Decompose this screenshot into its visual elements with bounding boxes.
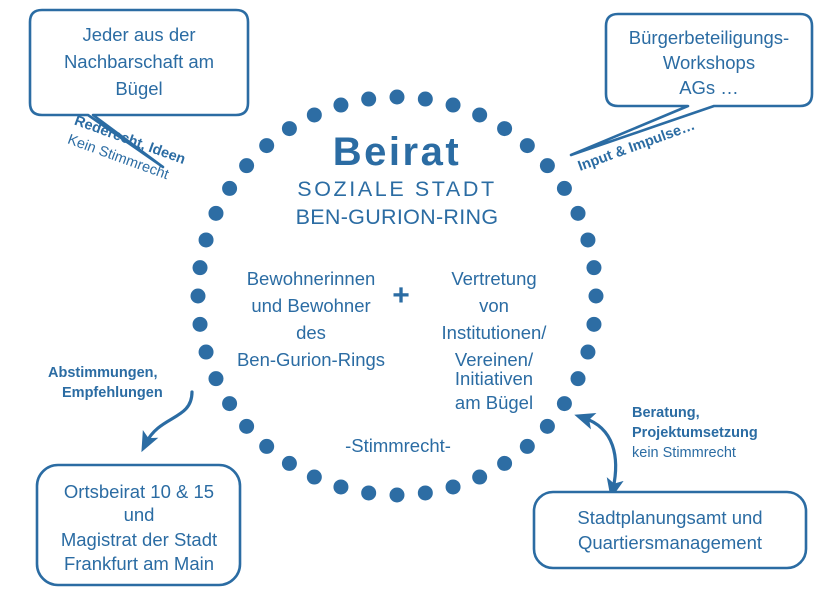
bubble-tr-line-1: Workshops: [663, 52, 755, 73]
arrow-beratung-bidirectional: [584, 418, 616, 489]
beirat-structure-diagram: Beirat SOZIALE STADT BEN-GURION-RING Bew…: [0, 0, 820, 600]
box-bl-line-0: Ortsbeirat 10 & 15: [64, 481, 214, 502]
ring-dot: [307, 107, 322, 122]
connector-label-bottom-right: Beratung, Projektumsetzung kein Stimmrec…: [632, 405, 758, 461]
box-bottom-left[interactable]: Ortsbeirat 10 & 15 und Magistrat der Sta…: [37, 465, 240, 585]
ring-dot: [497, 456, 512, 471]
box-bl-line-3: Frankfurt am Main: [64, 553, 214, 574]
box-bl-line-1: und: [124, 504, 155, 525]
ring-dot: [520, 439, 535, 454]
ring-dot: [193, 317, 208, 332]
ring-dot: [282, 121, 297, 136]
ring-dot: [390, 488, 405, 503]
ring-dot: [446, 98, 461, 113]
ring-dot: [333, 98, 348, 113]
center-subtitle-1: SOZIALE STADT: [297, 177, 496, 201]
center-left-line-1: und Bewohner: [251, 295, 370, 316]
center-right-line-5: am Bügel: [455, 392, 533, 413]
bubble-tl-line-1: Nachbarschaft am: [64, 51, 214, 72]
ring-dot: [208, 371, 223, 386]
ring-dot: [540, 158, 555, 173]
center-subtitle-2: BEN-GURION-RING: [296, 205, 499, 229]
label-br-bold-1: Projektumsetzung: [632, 425, 758, 441]
center-left-line-2: des: [296, 322, 326, 343]
ring-dot: [259, 439, 274, 454]
label-bl-bold-0: Abstimmungen,: [48, 365, 158, 381]
ring-dot: [418, 92, 433, 107]
ring-dot: [472, 470, 487, 485]
ring-dot: [586, 260, 601, 275]
center-left-line-0: Bewohnerinnen: [247, 268, 376, 289]
center-right-line-3: Vereinen/: [455, 349, 534, 370]
connector-label-bottom-left: Abstimmungen, Empfehlungen: [48, 365, 163, 401]
ring-dot: [589, 289, 604, 304]
ring-dot: [497, 121, 512, 136]
center-right-line-2: Institutionen/: [442, 322, 548, 343]
bubble-tr-line-2: AGs …: [679, 77, 739, 98]
box-bl-line-2: Magistrat der Stadt: [61, 529, 217, 550]
ring-dot: [333, 479, 348, 494]
ring-dot: [571, 371, 586, 386]
center-title: Beirat: [333, 130, 461, 174]
ring-dot: [580, 232, 595, 247]
diagram-canvas: Beirat SOZIALE STADT BEN-GURION-RING Bew…: [0, 0, 820, 600]
bubble-tr-line-0: Bürgerbeteiligungs-: [629, 27, 789, 48]
ring-dot: [361, 485, 376, 500]
ring-dot: [586, 317, 601, 332]
ring-dot: [193, 260, 208, 275]
center-right-line-1: von: [479, 295, 509, 316]
box-bottom-right[interactable]: Stadtplanungsamt und Quartiersmanagement: [534, 492, 806, 568]
ring-dot: [199, 232, 214, 247]
ring-dot: [191, 289, 206, 304]
bubble-tl-line-2: Bügel: [115, 78, 162, 99]
box-br-line-0: Stadtplanungsamt und: [577, 507, 762, 528]
ring-dot: [259, 138, 274, 153]
ring-dot: [222, 181, 237, 196]
center-right-line-0: Vertretung: [451, 268, 536, 289]
ring-dot: [282, 456, 297, 471]
ring-dot: [571, 206, 586, 221]
ring-dot: [361, 92, 376, 107]
ring-dot: [418, 485, 433, 500]
ring-dot: [540, 419, 555, 434]
center-left-line-3: Ben-Gurion-Rings: [237, 349, 385, 370]
ring-dot: [239, 419, 254, 434]
label-br-bold-0: Beratung,: [632, 405, 700, 421]
label-br-regular-0: kein Stimmrecht: [632, 445, 736, 461]
ring-dot: [239, 158, 254, 173]
box-br-line-1: Quartiersmanagement: [578, 532, 762, 553]
center-footer: -Stimmrecht-: [345, 435, 451, 456]
ring-dot: [580, 345, 595, 360]
ring-dot: [557, 396, 572, 411]
center-content: Beirat SOZIALE STADT BEN-GURION-RING Bew…: [237, 130, 547, 456]
ring-dot: [307, 470, 322, 485]
ring-dot: [199, 345, 214, 360]
ring-dot: [446, 479, 461, 494]
box-shape-bottom-right: [534, 492, 806, 568]
label-bl-bold-1: Empfehlungen: [62, 385, 163, 401]
center-right-line-4: Initiativen: [455, 368, 533, 389]
connector-label-top-left: Rederecht, Ideen Kein Stimmrecht: [65, 113, 187, 187]
ring-dot: [390, 90, 405, 105]
ring-dot: [472, 107, 487, 122]
plus-sign: +: [392, 279, 410, 312]
ring-dot: [208, 206, 223, 221]
ring-dot: [222, 396, 237, 411]
ring-dot: [520, 138, 535, 153]
bubble-tl-line-0: Jeder aus der: [82, 24, 195, 45]
ring-dot: [557, 181, 572, 196]
